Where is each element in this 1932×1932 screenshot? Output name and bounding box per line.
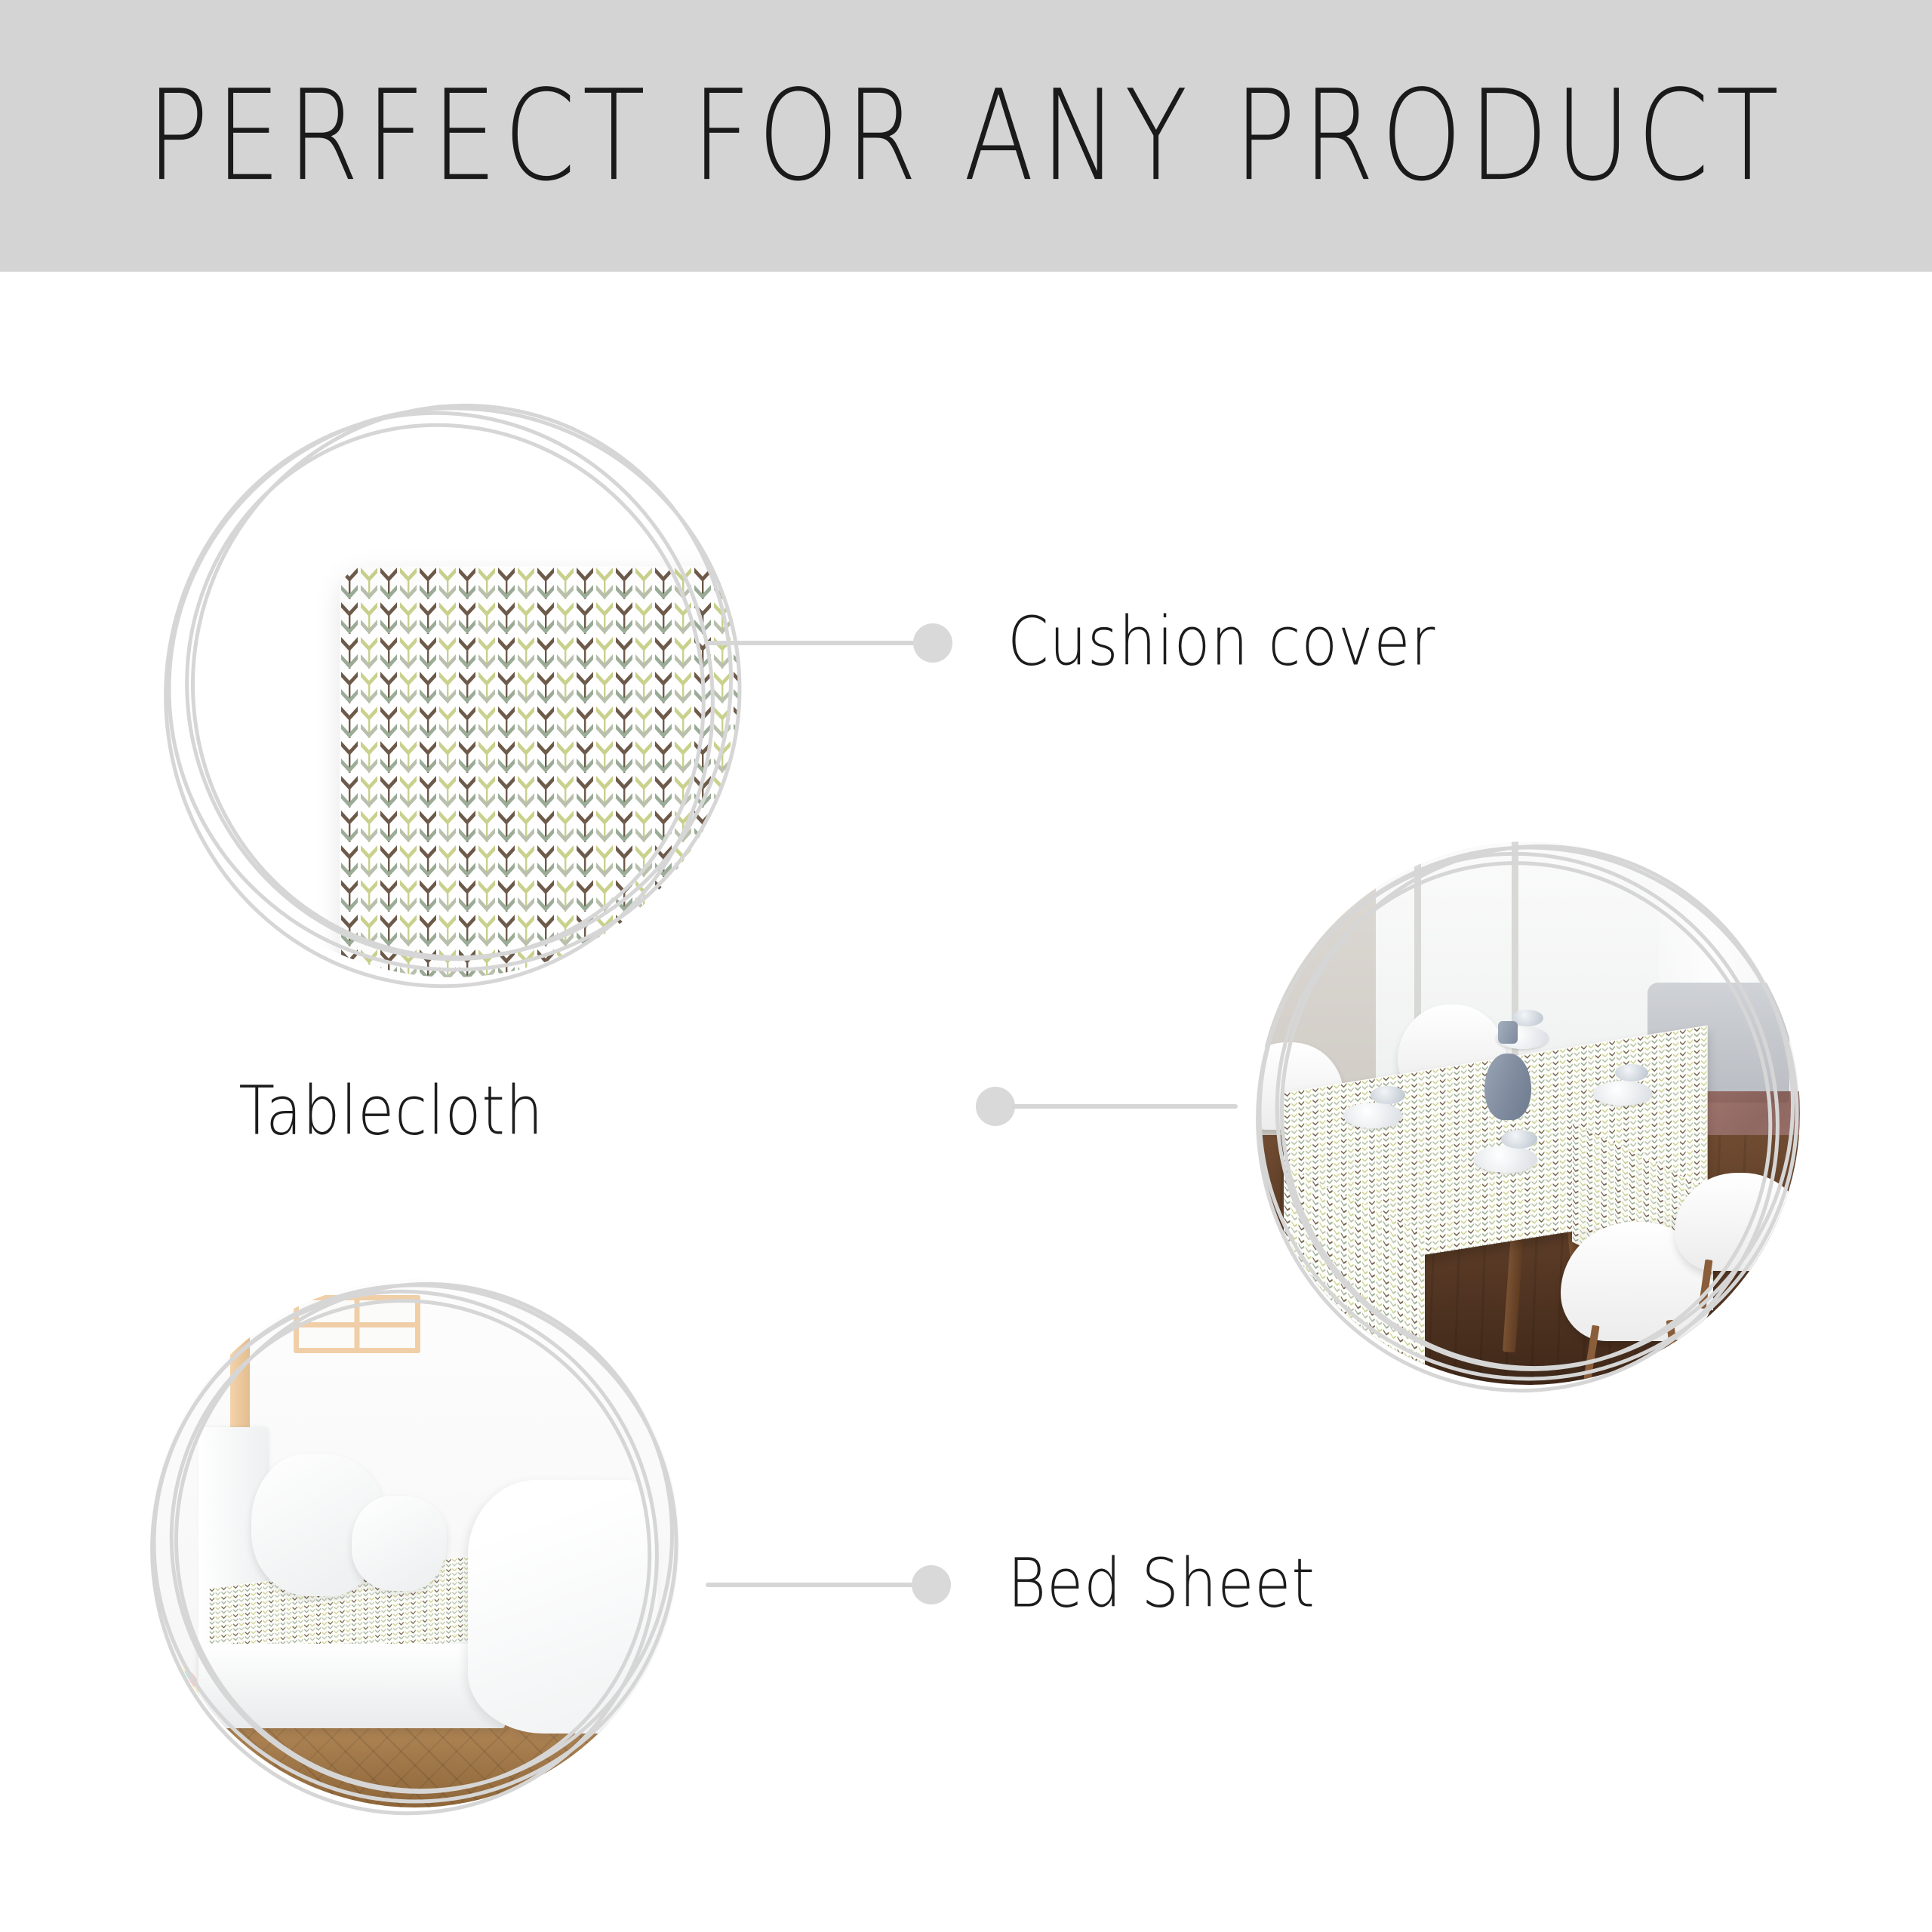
bedsheet-connector-line	[706, 1583, 931, 1587]
page-title: PERFECT FOR ANY PRODUCT	[146, 73, 1786, 198]
label-bed-sheet: Bed Sheet	[1008, 1549, 1315, 1617]
tablecloth-connector-dot	[976, 1087, 1015, 1126]
bedsheet-mockup-group	[121, 1249, 709, 1838]
mockup-stage: Cushion cover	[0, 272, 1932, 1932]
bedsheet-sketch-rings	[121, 1249, 709, 1838]
tablecloth-connector-line	[1011, 1104, 1238, 1109]
cushion-sketch-rings	[113, 351, 792, 1030]
tablecloth-sketch-rings	[1226, 811, 1830, 1415]
label-tablecloth: Tablecloth	[238, 1077, 543, 1144]
cushion-connector-dot	[913, 623, 952, 663]
cushion-connector-line	[706, 641, 932, 645]
tablecloth-mockup-group	[1226, 811, 1830, 1415]
bedsheet-connector-dot	[912, 1565, 951, 1604]
cushion-mockup-group	[113, 351, 792, 1030]
header-banner: PERFECT FOR ANY PRODUCT	[0, 0, 1932, 272]
label-cushion-cover: Cushion cover	[1008, 608, 1435, 675]
